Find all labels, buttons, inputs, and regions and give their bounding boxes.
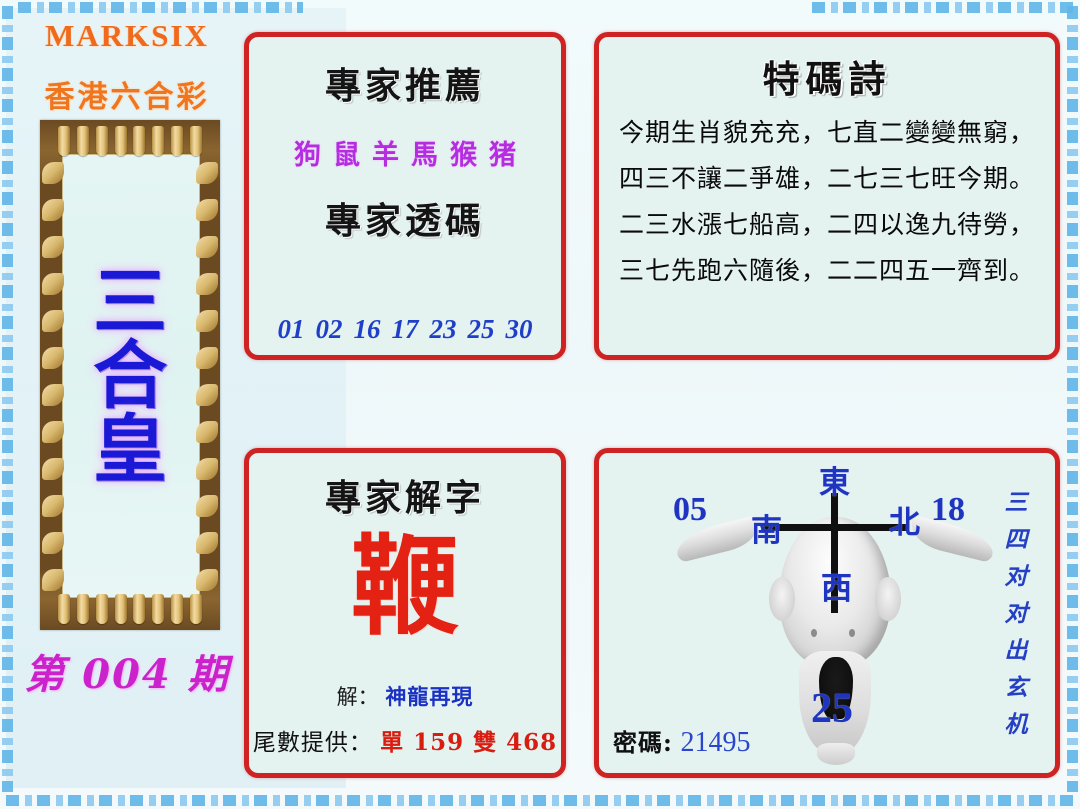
direction-label-north: 北 — [889, 497, 920, 542]
zodiac-item-2: 鼠 — [333, 133, 360, 172]
number-item-2: 02 — [316, 314, 343, 345]
skull-brow-left — [769, 577, 795, 621]
saying-char-2: 四 — [1005, 520, 1028, 554]
tail-numbers-row: 尾數提供： 單 159 雙 468 — [249, 723, 561, 757]
direction-label-east: 東 — [819, 457, 850, 502]
featured-character: 鞭 — [249, 531, 561, 644]
saying-char-4: 对 — [1005, 594, 1028, 628]
lucky-number-poem-panel: 特碼詩 今期生肖貌充充，七直二變變無窮， 四三不讓二爭雄，二七三七旺今期。 二三… — [594, 32, 1060, 360]
dashed-border-top-right — [812, 2, 1074, 13]
word-panel-heading: 專家解字 — [249, 469, 561, 521]
tail-numbers-value: 單 159 雙 468 — [380, 729, 557, 756]
direction-label-south: 南 — [751, 505, 782, 550]
skull-eye-right — [849, 629, 855, 637]
scroll-title-vertical: 三 合 皇 — [70, 164, 190, 588]
number-item-6: 25 — [468, 314, 495, 345]
zodiac-item-6: 猪 — [489, 133, 516, 172]
poem-line-3: 二三水漲七船高，二四以逸九待勞， — [599, 205, 1055, 241]
number-item-4: 17 — [392, 314, 419, 345]
skull-illustration-area: 東 南 北 西 05 18 25 三 四 对 对 出 玄 机 密碼: 21495 — [599, 453, 1055, 773]
zodiac-item-4: 馬 — [411, 133, 438, 172]
dashed-border-bottom — [6, 795, 1076, 806]
number-item-7: 30 — [506, 314, 533, 345]
dashed-border-right — [1067, 6, 1078, 792]
skull-number-left: 05 — [673, 491, 707, 529]
vertical-saying: 三 四 对 对 出 玄 机 — [999, 483, 1033, 739]
zodiac-list: 狗 鼠 羊 馬 猴 猪 — [249, 133, 561, 172]
zodiac-item-3: 羊 — [372, 133, 399, 172]
number-item-5: 23 — [430, 314, 457, 345]
poem-title: 特碼詩 — [599, 49, 1055, 103]
secret-code-row: 密碼: 21495 — [613, 723, 751, 759]
saying-char-7: 机 — [1005, 705, 1028, 739]
skull-eye-left — [811, 629, 817, 637]
number-item-1: 01 — [278, 314, 305, 345]
branding-column: MARKSIX 香港六合彩 — [8, 6, 248, 796]
recommendation-heading: 專家推薦 — [249, 57, 561, 109]
direction-label-west: 西 — [821, 563, 852, 608]
brand-title-cn: 香港六合彩 — [8, 72, 246, 116]
secret-code-label: 密碼: — [613, 728, 673, 757]
decorative-scroll: 三 合 皇 — [40, 120, 220, 630]
poem-line-4: 三七先跑六隨後，二二四五一齊到。 — [599, 251, 1055, 287]
brand-title-en: MARKSIX — [8, 18, 246, 54]
word-interpretation-panel: 專家解字 鞭 解： 神龍再現 尾數提供： 單 159 雙 468 — [244, 448, 566, 778]
scroll-coils-right — [194, 154, 220, 598]
scroll-char-2: 合 — [93, 341, 167, 411]
saying-char-5: 出 — [1005, 631, 1028, 665]
compass-cross-horizontal — [761, 524, 909, 531]
recommended-numbers-list: 01 02 16 17 23 25 30 — [249, 314, 561, 345]
saying-char-1: 三 — [1005, 483, 1028, 517]
zodiac-item-5: 猴 — [450, 133, 477, 172]
skull-brow-right — [875, 577, 901, 621]
poster-root: MARKSIX 香港六合彩 — [0, 0, 1080, 809]
explanation-value: 神龍再現 — [385, 684, 473, 709]
poem-line-2: 四三不讓二爭雄，二七三七旺今期。 — [599, 159, 1055, 195]
skull-number-bottom: 25 — [811, 685, 853, 733]
saying-char-3: 对 — [1005, 557, 1028, 591]
reveal-numbers-heading: 專家透碼 — [249, 192, 561, 244]
zodiac-item-1: 狗 — [294, 133, 321, 172]
number-item-3: 16 — [354, 314, 381, 345]
scroll-coils-bottom — [58, 594, 202, 624]
secret-code-value: 21495 — [681, 727, 751, 758]
issue-number-label: 第 004 期 — [8, 642, 246, 700]
skull-teeth — [817, 743, 855, 765]
tail-numbers-label: 尾數提供： — [253, 730, 373, 756]
poem-line-1: 今期生肖貌充充，七直二變變無窮， — [599, 113, 1055, 149]
scroll-char-3: 皇 — [93, 415, 167, 485]
scroll-char-1: 三 — [93, 267, 167, 337]
scroll-coils-left — [40, 154, 66, 598]
scroll-coils-top — [58, 126, 202, 156]
expert-recommendation-panel: 專家推薦 狗 鼠 羊 馬 猴 猪 專家透碼 01 02 16 17 23 25 … — [244, 32, 566, 360]
skull-compass-panel: 東 南 北 西 05 18 25 三 四 对 对 出 玄 机 密碼: 21495 — [594, 448, 1060, 778]
skull-number-right: 18 — [931, 491, 965, 529]
explanation-label: 解： — [337, 685, 379, 709]
saying-char-6: 玄 — [1005, 668, 1028, 702]
explanation-row: 解： 神龍再現 — [249, 681, 561, 711]
